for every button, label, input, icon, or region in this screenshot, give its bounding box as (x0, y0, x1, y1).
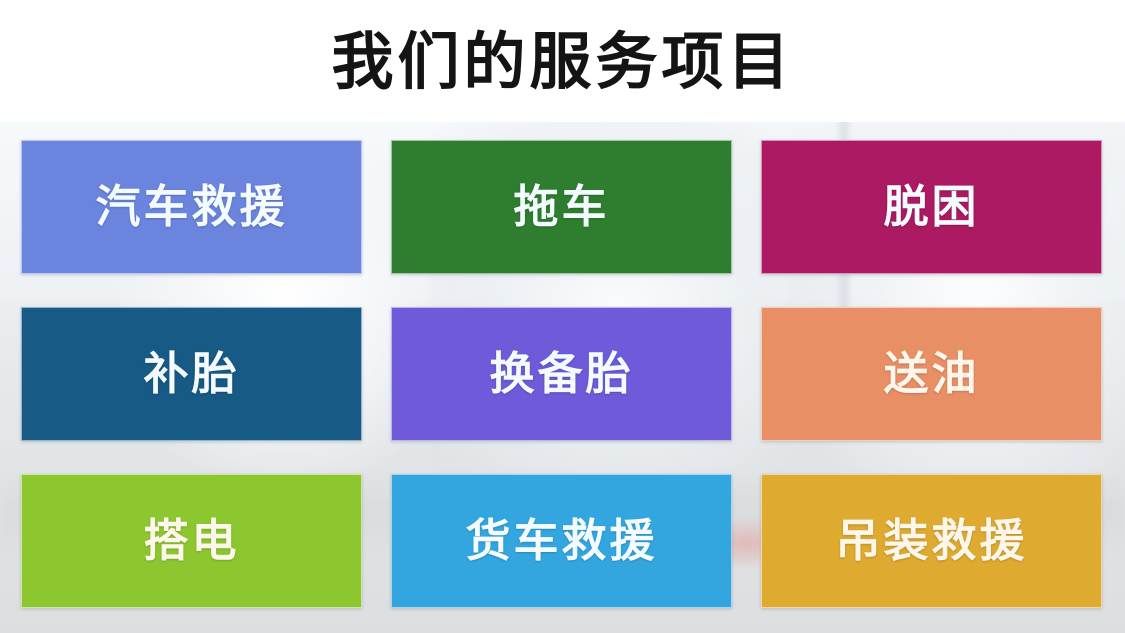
service-tile-label: 货车救援 (465, 518, 657, 563)
service-tile-label: 搭电 (143, 518, 239, 563)
service-tile-truck-rescue[interactable]: 货车救援 (391, 474, 732, 608)
service-tile-spare-tire-change[interactable]: 换备胎 (391, 307, 732, 441)
service-tile-label: 补胎 (143, 351, 239, 396)
service-tile-label: 拖车 (513, 184, 609, 229)
service-tile-label: 脱困 (883, 184, 979, 229)
service-tile-extrication[interactable]: 脱困 (761, 140, 1102, 274)
service-tile-fuel-delivery[interactable]: 送油 (761, 307, 1102, 441)
service-tile-label: 吊装救援 (835, 518, 1027, 563)
service-tile-jump-start[interactable]: 搭电 (21, 474, 362, 608)
service-tile-tow-truck[interactable]: 拖车 (391, 140, 732, 274)
service-tile-grid: 汽车救援拖车脱困补胎换备胎送油搭电货车救援吊装救援 (21, 140, 1102, 608)
service-poster: 我们的服务项目 汽车救援拖车脱困补胎换备胎送油搭电货车救援吊装救援 (0, 0, 1125, 633)
service-tile-label: 送油 (883, 351, 979, 396)
title-band: 我们的服务项目 (0, 0, 1125, 122)
service-tile-crane-hoist-rescue[interactable]: 吊装救援 (761, 474, 1102, 608)
page-title: 我们的服务项目 (331, 32, 793, 94)
service-tile-label: 汽车救援 (95, 184, 287, 229)
service-tile-tire-repair[interactable]: 补胎 (21, 307, 362, 441)
service-tile-label: 换备胎 (489, 351, 633, 396)
service-tile-car-rescue[interactable]: 汽车救援 (21, 140, 362, 274)
